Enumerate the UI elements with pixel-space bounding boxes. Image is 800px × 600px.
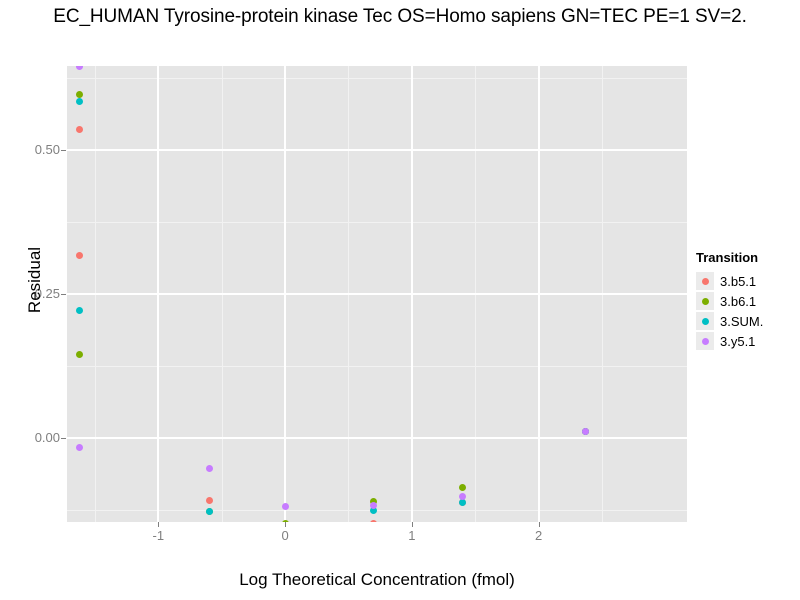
legend-item-label: 3.b6.1	[720, 294, 756, 309]
gridline-minor-horizontal	[67, 222, 687, 223]
legend-dot-icon	[702, 338, 709, 345]
data-point-3.b6.1	[459, 484, 466, 491]
data-point-3.b5.1	[76, 126, 83, 133]
y-axis-tick-mark	[61, 150, 66, 151]
data-point-3.b6.1	[76, 91, 83, 98]
gridline-major-vertical	[157, 66, 159, 522]
data-point-3.y5.1	[76, 66, 83, 70]
y-axis-tick-mark	[61, 294, 66, 295]
legend-dot-icon	[702, 298, 709, 305]
data-point-3.y5.1	[76, 444, 83, 451]
legend-key-swatch	[696, 332, 714, 350]
gridline-major-horizontal	[67, 149, 687, 151]
gridline-major-horizontal	[67, 437, 687, 439]
x-axis-tick-label: 2	[519, 528, 559, 543]
legend-item-3.b5.1[interactable]: 3.b5.1	[696, 271, 796, 291]
legend: Transition 3.b5.13.b6.13.SUM.3.y5.1	[696, 250, 796, 351]
gridline-major-vertical	[538, 66, 540, 522]
data-point-3.b5.1	[206, 497, 213, 504]
y-axis-tick-mark	[61, 438, 66, 439]
data-point-3.SUM.	[206, 508, 213, 515]
legend-dot-icon	[702, 318, 709, 325]
data-point-3.y5.1	[206, 465, 213, 472]
x-axis-title: Log Theoretical Concentration (fmol)	[67, 570, 687, 590]
data-point-3.y5.1	[459, 493, 466, 500]
legend-item-label: 3.y5.1	[720, 334, 755, 349]
y-axis-tick-label: 0.00	[35, 430, 60, 445]
data-point-3.y5.1	[582, 428, 589, 435]
y-axis-tick-label: 0.50	[35, 142, 60, 157]
legend-item-3.SUM.[interactable]: 3.SUM.	[696, 311, 796, 331]
data-point-3.b5.1	[76, 252, 83, 259]
legend-item-3.b6.1[interactable]: 3.b6.1	[696, 291, 796, 311]
gridline-major-horizontal	[67, 293, 687, 295]
x-axis-tick-mark	[539, 522, 540, 527]
data-point-3.b5.1	[370, 520, 377, 522]
gridline-minor-horizontal	[67, 510, 687, 511]
gridline-major-vertical	[284, 66, 286, 522]
plot-panel	[67, 66, 687, 522]
scatter-plot-figure: EC_HUMAN Tyrosine-protein kinase Tec OS=…	[0, 0, 800, 600]
data-point-3.SUM.	[76, 98, 83, 105]
gridline-minor-horizontal	[67, 366, 687, 367]
gridline-major-vertical	[411, 66, 413, 522]
x-axis-tick-label: 1	[392, 528, 432, 543]
legend-key-swatch	[696, 312, 714, 330]
legend-item-3.y5.1[interactable]: 3.y5.1	[696, 331, 796, 351]
legend-dot-icon	[702, 278, 709, 285]
x-axis-tick-label: -1	[138, 528, 178, 543]
data-point-3.y5.1	[282, 503, 289, 510]
legend-key-swatch	[696, 292, 714, 310]
legend-item-label: 3.SUM.	[720, 314, 763, 329]
x-axis-tick-mark	[412, 522, 413, 527]
page-title: EC_HUMAN Tyrosine-protein kinase Tec OS=…	[0, 6, 800, 28]
gridline-minor-horizontal	[67, 78, 687, 79]
data-point-3.b6.1	[76, 351, 83, 358]
data-point-3.SUM.	[76, 307, 83, 314]
legend-title: Transition	[696, 250, 796, 265]
x-axis-tick-mark	[158, 522, 159, 527]
legend-item-label: 3.b5.1	[720, 274, 756, 289]
x-axis-tick-mark	[285, 522, 286, 527]
y-axis-title: Residual	[25, 160, 45, 400]
legend-key-swatch	[696, 272, 714, 290]
x-axis-tick-label: 0	[265, 528, 305, 543]
legend-entries: 3.b5.13.b6.13.SUM.3.y5.1	[696, 271, 796, 351]
